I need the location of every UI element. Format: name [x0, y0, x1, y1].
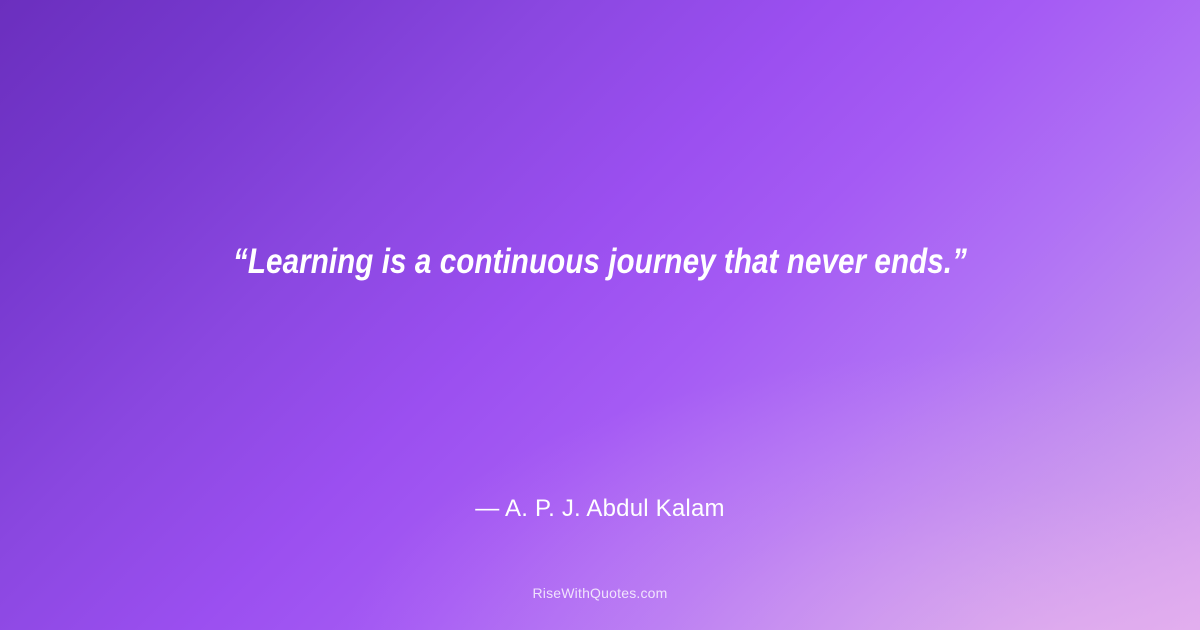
- quote-content: “Learning is a continuous journey that n…: [0, 0, 1200, 630]
- quote-attribution: — A. P. J. Abdul Kalam: [0, 494, 1200, 524]
- site-credit: RiseWithQuotes.com: [0, 584, 1200, 602]
- quote-card: “Learning is a continuous journey that n…: [0, 0, 1200, 630]
- quote-text: “Learning is a continuous journey that n…: [93, 238, 1107, 286]
